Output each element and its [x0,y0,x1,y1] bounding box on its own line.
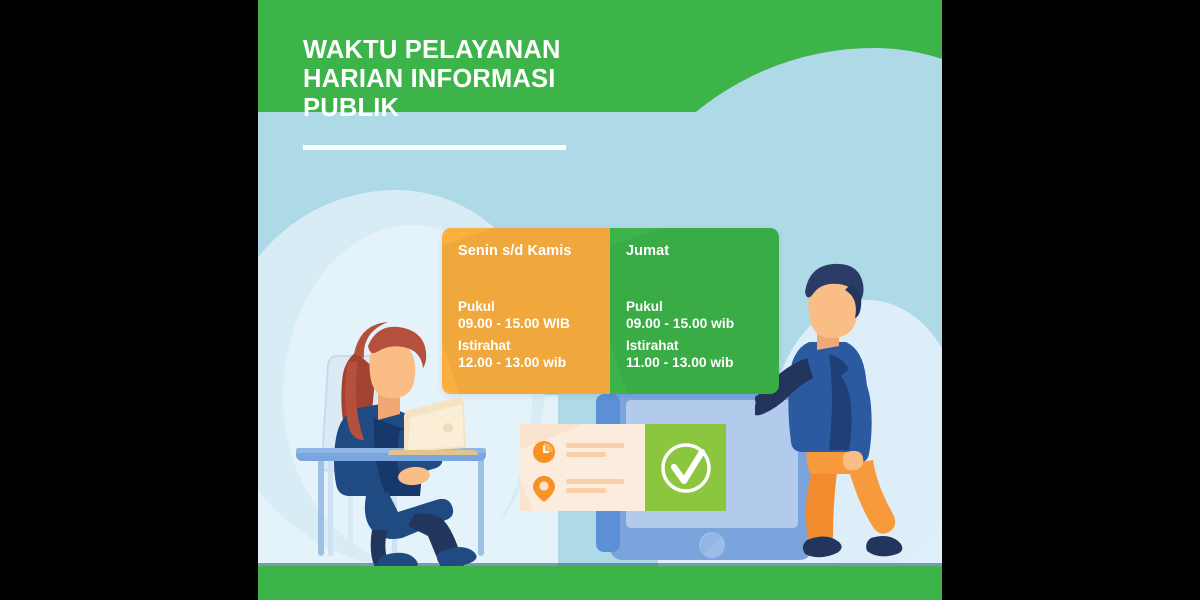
location-pin-icon [533,476,555,502]
friday-header: Jumat [626,242,779,260]
weekday-body: Pukul 09.00 - 15.00 WIB Istirahat 12.00 … [458,298,610,372]
poster-stage: WAKTU PELAYANAN HARIAN INFORMASI PUBLIK … [0,0,1200,600]
friday-open-label: Pukul [626,298,779,315]
info-card [520,424,645,511]
check-circle-icon [658,440,714,496]
letterbox-bar-left [0,0,258,600]
info-line-2 [566,452,606,457]
info-line-4 [566,488,606,493]
weekday-break-label: Istirahat [458,337,610,354]
check-panel [645,424,726,511]
weekday-open-value: 09.00 - 15.00 WIB [458,315,610,333]
weekday-header: Senin s/d Kamis [458,242,610,260]
letterbox-bar-right [942,0,1200,600]
weekday-open-label: Pukul [458,298,610,315]
schedule-card: Senin s/d Kamis Pukul 09.00 - 15.00 WIB … [442,228,779,394]
man-pointing-illustration [755,258,942,568]
schedule-column-friday[interactable]: Jumat Pukul 09.00 - 15.00 wib Istirahat … [610,228,779,394]
schedule-column-weekday[interactable]: Senin s/d Kamis Pukul 09.00 - 15.00 WIB … [442,228,610,394]
poster-canvas: WAKTU PELAYANAN HARIAN INFORMASI PUBLIK … [258,0,942,600]
bottom-green-bar [258,566,942,600]
page-title: WAKTU PELAYANAN HARIAN INFORMASI PUBLIK [303,36,633,123]
friday-break-label: Istirahat [626,337,779,354]
clock-icon [532,440,556,464]
info-line-3 [566,479,624,484]
friday-open-value: 09.00 - 15.00 wib [626,315,779,333]
title-underline [303,145,566,150]
info-line-1 [566,443,624,448]
friday-body: Pukul 09.00 - 15.00 wib Istirahat 11.00 … [626,298,779,372]
friday-break-value: 11.00 - 13.00 wib [626,354,779,372]
weekday-break-value: 12.00 - 13.00 wib [458,354,610,372]
